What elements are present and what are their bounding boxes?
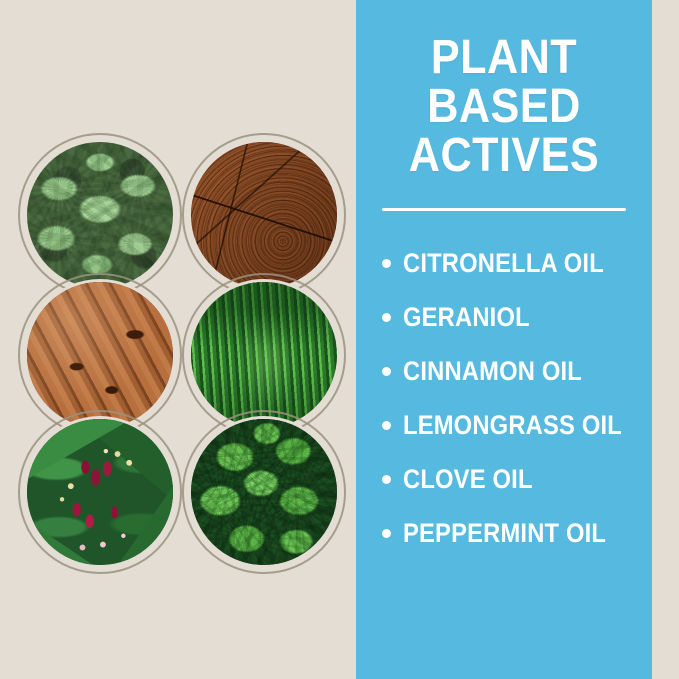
photo-lemongrass [191,282,337,428]
clove-buds-image [27,419,173,565]
photo-cinnamon-sticks [27,282,173,428]
lemongrass-image [191,282,337,428]
photo-citronella-plant [27,142,173,288]
info-panel: PLANT BASED ACTIVES CITRONELLA OIL GERAN… [356,0,652,679]
bullet-icon [382,421,391,430]
wood-rings-image [191,142,337,288]
list-item: CITRONELLA OIL [382,237,626,291]
photo-peppermint [191,419,337,565]
citronella-leaves-image [27,142,173,288]
title-line-1: PLANT [394,34,614,83]
bullet-icon [382,529,391,538]
plant-based-actives-poster: PLANT BASED ACTIVES CITRONELLA OIL GERAN… [0,0,679,679]
active-label: CLOVE OIL [403,466,533,493]
active-label: CITRONELLA OIL [403,250,604,277]
photo-cinnamon-wood-rings [191,142,337,288]
ingredient-photo-grid [0,0,356,679]
bullet-icon [382,259,391,268]
title-divider [382,208,626,211]
circle-clove-buds [18,410,182,574]
active-label: LEMONGRASS OIL [403,412,622,439]
actives-list: CITRONELLA OIL GERANIOL CINNAMON OIL LEM… [382,237,626,561]
list-item: CLOVE OIL [382,453,626,507]
cinnamon-sticks-image [27,282,173,428]
list-item: CINNAMON OIL [382,345,626,399]
active-label: GERANIOL [403,304,530,331]
list-item: LEMONGRASS OIL [382,399,626,453]
list-item: PEPPERMINT OIL [382,507,626,561]
photo-clove-buds [27,419,173,565]
circle-peppermint [182,410,346,574]
bullet-icon [382,313,391,322]
page-title: PLANT BASED ACTIVES [394,34,614,181]
bullet-icon [382,367,391,376]
list-item: GERANIOL [382,291,626,345]
right-margin-strip [652,0,679,679]
peppermint-image [191,419,337,565]
bullet-icon [382,475,391,484]
title-line-3: ACTIVES [394,132,614,181]
title-line-2: BASED [394,83,614,132]
active-label: CINNAMON OIL [403,358,582,385]
active-label: PEPPERMINT OIL [403,520,606,547]
